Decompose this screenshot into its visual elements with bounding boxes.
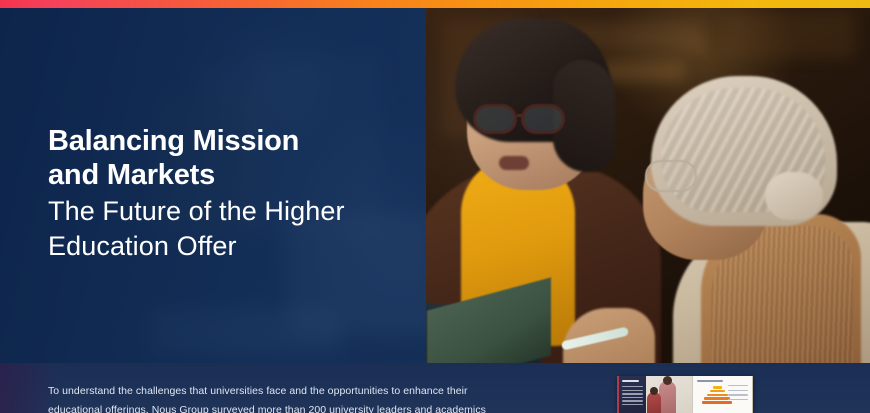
- report-chart-labels: [728, 385, 748, 404]
- report-page-photo: [646, 376, 692, 413]
- report-label-line: [728, 390, 748, 391]
- headline-secondary: The Future of the Higher Education Offer: [48, 194, 408, 264]
- hero-banner: Balancing Mission and Markets The Future…: [0, 0, 870, 413]
- woman-left-glasses-left-lens: [473, 104, 517, 134]
- intro-paragraph: To understand the challenges that univer…: [48, 382, 518, 413]
- headline-primary: Balancing Mission and Markets: [48, 124, 408, 192]
- woman-left-glasses-right-lens: [521, 104, 565, 134]
- report-label-line: [728, 399, 748, 400]
- report-cover-text-line: [622, 386, 643, 387]
- report-label-line: [728, 394, 748, 395]
- two-women-in-conversation-photo: [425, 8, 870, 363]
- pyramid-band: [713, 386, 722, 389]
- pyramid-band: [707, 394, 728, 397]
- woman-right-headscarf-knot: [765, 172, 823, 220]
- top-gradient-accent-bar: [0, 0, 870, 8]
- report-cover-text-line: [622, 390, 643, 391]
- report-label-line: [728, 385, 748, 386]
- report-chart-page: [692, 376, 753, 413]
- report-cover-text-line: [622, 393, 643, 394]
- report-chart-heading: [697, 380, 723, 382]
- report-cover-title-line: [622, 380, 639, 382]
- woman-right-glasses: [645, 160, 697, 192]
- report-cover-text-line: [622, 400, 643, 401]
- page-title: Balancing Mission and Markets The Future…: [48, 124, 408, 264]
- report-spread-thumbnail[interactable]: [617, 376, 753, 413]
- pyramid-band: [704, 397, 730, 400]
- woman-left-mouth: [499, 156, 529, 170]
- pyramid-band: [710, 390, 725, 393]
- report-cover-text-line: [622, 397, 643, 398]
- report-cover-page: [617, 376, 646, 413]
- report-photo-person-b: [647, 392, 661, 413]
- report-photo-person-a: [659, 381, 676, 413]
- report-cover-text-line: [622, 404, 643, 405]
- report-page-fold: [692, 376, 693, 413]
- bookshelf-blur-4: [725, 12, 855, 58]
- woman-left-glasses-bridge: [517, 114, 525, 117]
